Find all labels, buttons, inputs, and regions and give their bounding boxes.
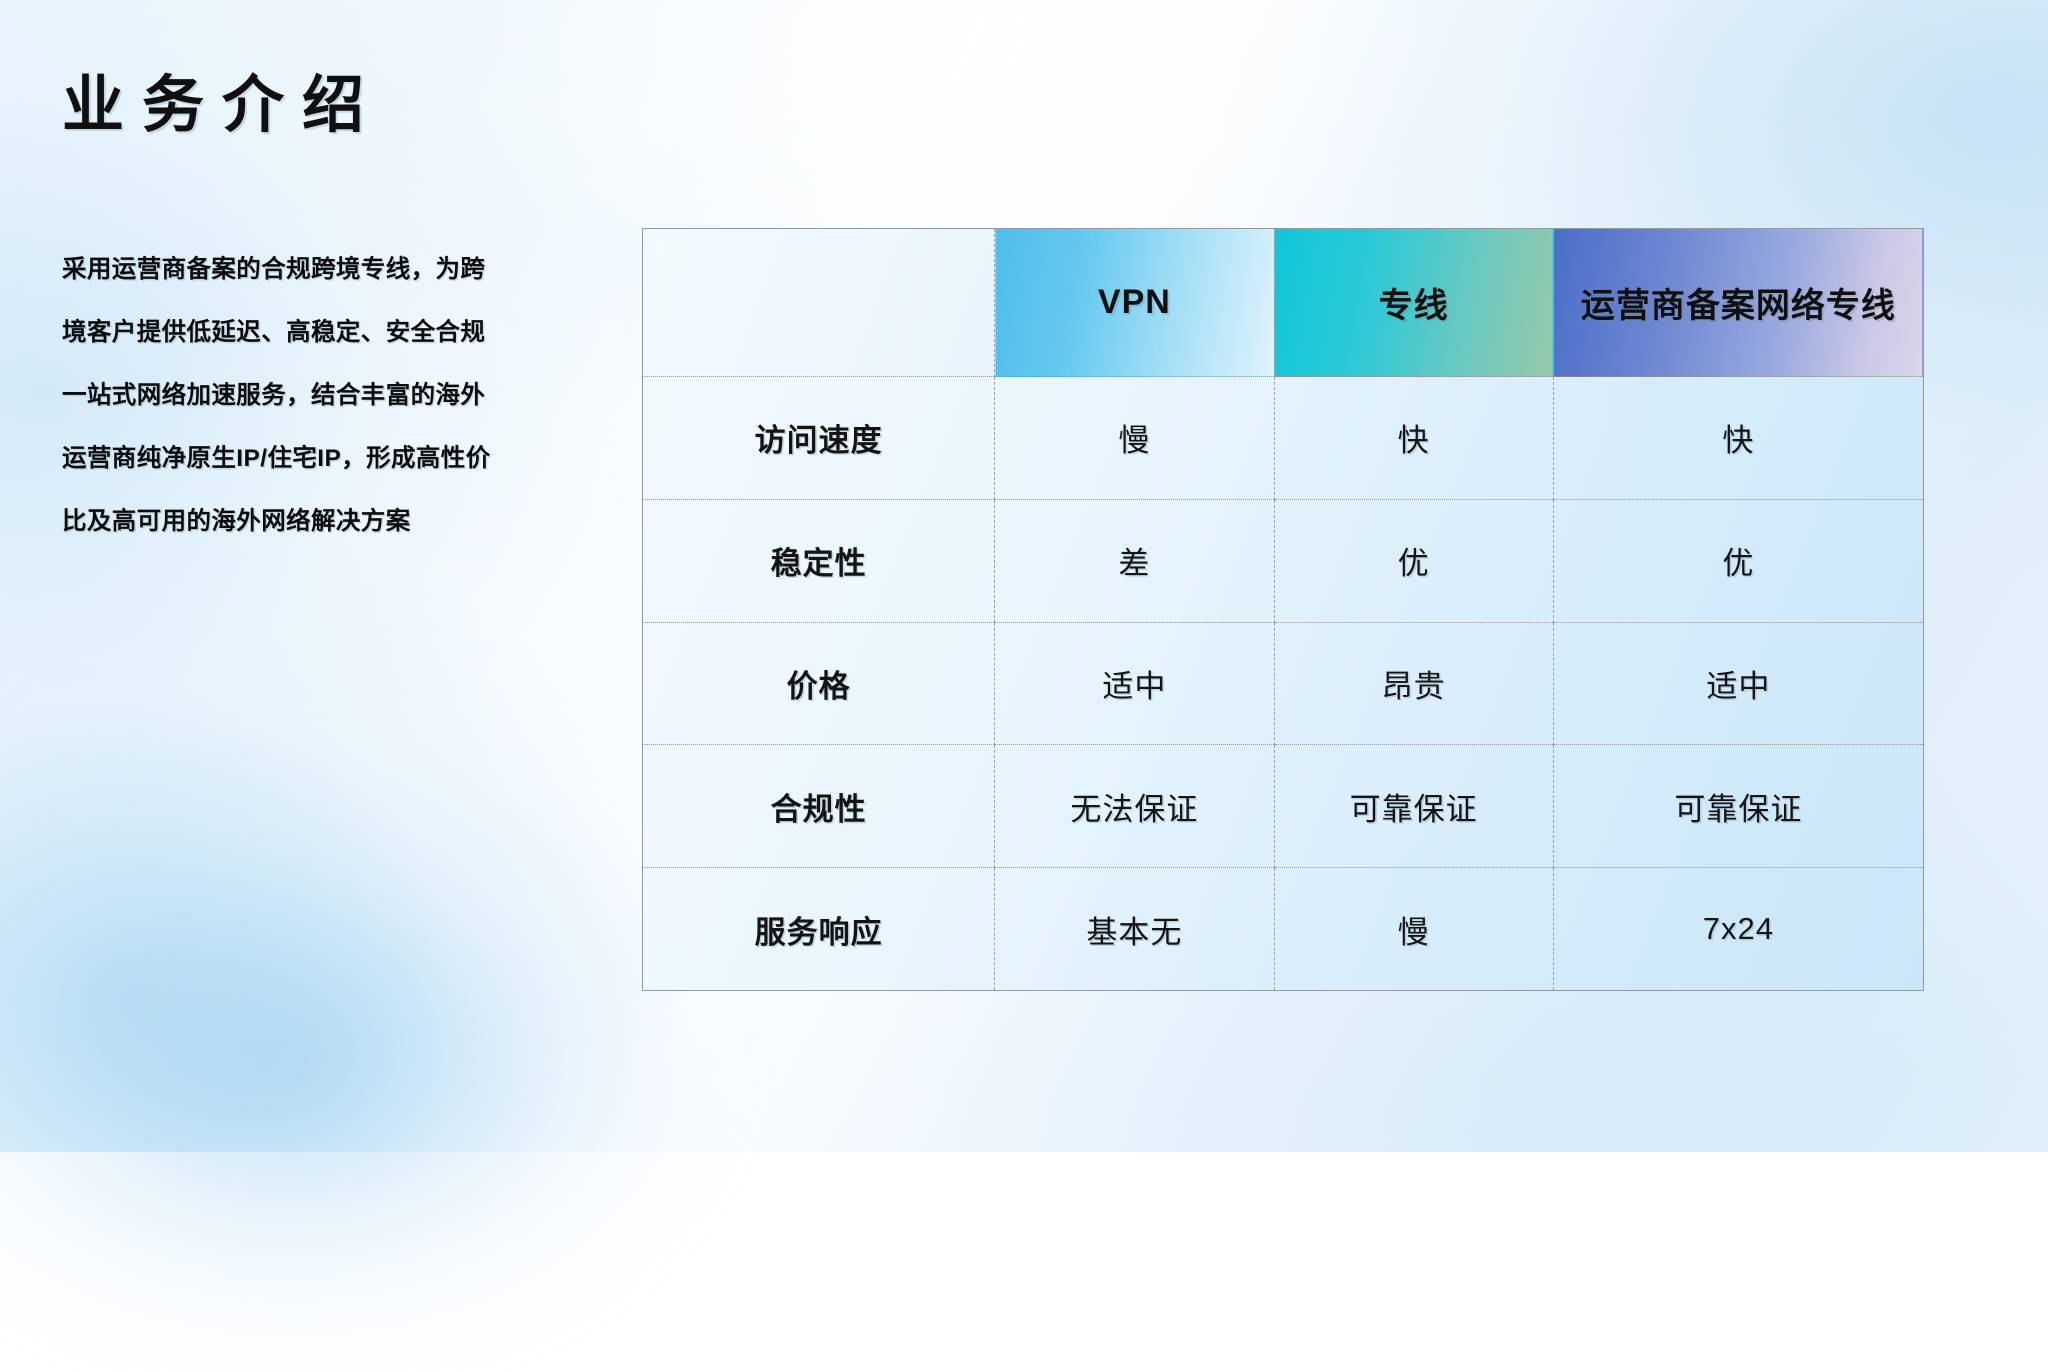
table-cell-text: 慢 (995, 415, 1273, 460)
table-cell-text: 无法保证 (995, 784, 1273, 829)
table-row-label: 服务响应 (643, 868, 995, 991)
background-glow-bottom-left (0, 752, 740, 1372)
table-cell-filed-line: 适中 (1553, 622, 1923, 745)
table-row: 访问速度 慢 快 快 (643, 377, 1924, 500)
table-cell-filed-line: 7x24 (1553, 868, 1923, 991)
table-row: 稳定性 差 优 优 (643, 499, 1924, 622)
comparison-table-element: VPN 专线 运营商备案网络专线 访问速度 慢 (642, 228, 1924, 991)
table-cell-text: 适中 (1554, 661, 1923, 706)
table-cell-dedicated-line: 快 (1274, 377, 1553, 500)
table-cell-text: 可靠保证 (1554, 784, 1923, 829)
table-cell-vpn: 基本无 (995, 868, 1274, 991)
table-cell-dedicated-line: 慢 (1274, 868, 1553, 991)
table-cell-filed-line: 优 (1553, 499, 1923, 622)
table-header-cell-dedicated-line: 专线 (1274, 229, 1553, 377)
table-cell-vpn: 适中 (995, 622, 1274, 745)
table-cell-text: 优 (1554, 538, 1923, 583)
table-row: 价格 适中 昂贵 适中 (643, 622, 1924, 745)
table-header-label-dedicated-line: 专线 (1275, 278, 1553, 327)
table-row-label: 合规性 (643, 745, 995, 868)
table-cell-filed-line: 快 (1553, 377, 1923, 500)
table-cell-vpn: 慢 (995, 377, 1274, 500)
table-cell-text: 7x24 (1554, 911, 1923, 947)
table-row: 服务响应 基本无 慢 7x24 (643, 868, 1924, 991)
slide-canvas: 业务介绍 采用运营商备案的合规跨境专线，为跨境客户提供低延迟、高稳定、安全合规一… (0, 0, 2048, 1152)
intro-paragraph: 采用运营商备案的合规跨境专线，为跨境客户提供低延迟、高稳定、安全合规一站式网络加… (62, 238, 492, 553)
table-cell-text: 适中 (995, 661, 1273, 706)
table-cell-text: 基本无 (995, 907, 1273, 952)
table-header-row: VPN 专线 运营商备案网络专线 (643, 229, 1924, 377)
table-cell-text: 可靠保证 (1275, 784, 1553, 829)
table-cell-text: 服务响应 (643, 907, 994, 952)
table-cell-text: 差 (995, 538, 1273, 583)
table-header-cell-filed-line: 运营商备案网络专线 (1553, 229, 1923, 377)
table-cell-dedicated-line: 优 (1274, 499, 1553, 622)
table-header-cell-vpn: VPN (995, 229, 1274, 377)
table-body: 访问速度 慢 快 快 稳定性 (643, 377, 1924, 991)
table-header-cell-blank (643, 229, 995, 377)
table-cell-vpn: 无法保证 (995, 745, 1274, 868)
table-cell-text: 稳定性 (643, 538, 994, 583)
table-cell-dedicated-line: 可靠保证 (1274, 745, 1553, 868)
table-cell-text: 价格 (643, 661, 994, 706)
table-header-label-vpn: VPN (995, 283, 1273, 322)
table-row-label: 价格 (643, 622, 995, 745)
table-cell-text: 快 (1554, 415, 1923, 460)
table-cell-text: 优 (1275, 538, 1553, 583)
table-row: 合规性 无法保证 可靠保证 可靠保证 (643, 745, 1924, 868)
table-cell-text: 慢 (1275, 907, 1553, 952)
table-cell-vpn: 差 (995, 499, 1274, 622)
table-row-label: 访问速度 (643, 377, 995, 500)
table-cell-text: 昂贵 (1275, 661, 1553, 706)
comparison-table: VPN 专线 运营商备案网络专线 访问速度 慢 (642, 228, 1924, 990)
table-cell-dedicated-line: 昂贵 (1274, 622, 1553, 745)
table-cell-text: 访问速度 (643, 415, 994, 460)
page-title: 业务介绍 (62, 54, 382, 144)
table-cell-text: 快 (1275, 415, 1553, 460)
table-cell-filed-line: 可靠保证 (1553, 745, 1923, 868)
table-cell-text: 合规性 (643, 784, 994, 829)
table-header-label-filed-line: 运营商备案网络专线 (1554, 278, 1923, 327)
table-header: VPN 专线 运营商备案网络专线 (643, 229, 1924, 377)
table-row-label: 稳定性 (643, 499, 995, 622)
